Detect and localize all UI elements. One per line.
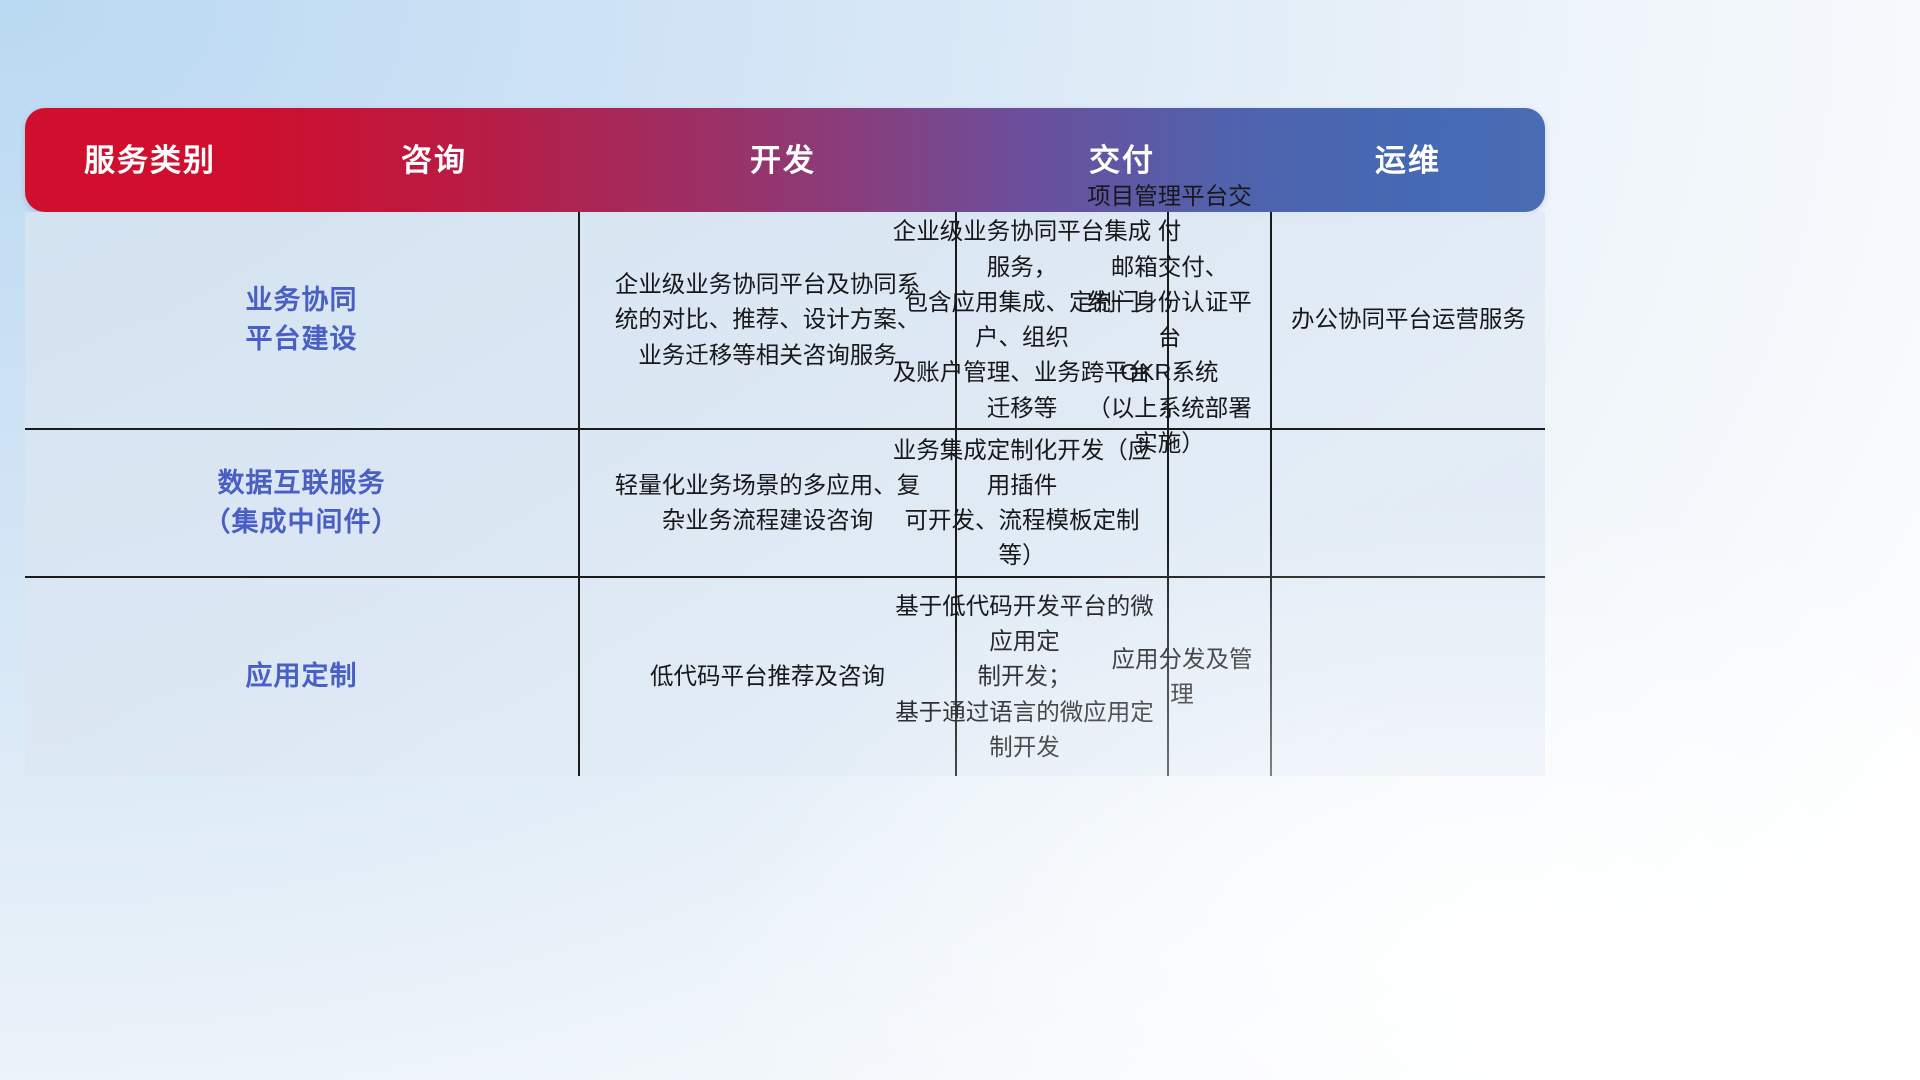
- column-header-operations: 运维: [1271, 145, 1545, 176]
- column-header-category: 服务类别: [25, 145, 275, 176]
- row-label-app-customization: 应用定制: [25, 578, 578, 776]
- cell-r3-delivery: 应用分发及管理: [1169, 578, 1270, 776]
- cell-r1-operations: 办公协同平台运营服务: [1272, 212, 1545, 428]
- service-matrix-table: 服务类别 咨询 开发 交付 运维 业务协同 平台建设 企业级业务协同平台及协同系…: [25, 108, 1545, 776]
- column-header-consulting: 咨询: [275, 145, 593, 176]
- table-header-row: 服务类别 咨询 开发 交付 运维: [25, 108, 1545, 212]
- cell-r2-operations: [1272, 430, 1545, 576]
- column-header-delivery: 交付: [973, 145, 1271, 176]
- row-label-business-collaboration: 业务协同 平台建设: [25, 212, 578, 428]
- cell-r1-delivery: 项目管理平台交付 邮箱交付、 统一身份认证平台 OKR系统 （以上系统部署实施）: [1169, 212, 1270, 428]
- cell-r3-operations: [1272, 578, 1545, 776]
- cell-r2-development: 业务集成定制化开发（应用插件 可开发、流程模板定制等）: [957, 430, 1167, 576]
- cell-r2-delivery: [1169, 430, 1270, 576]
- slide-canvas: 服务类别 咨询 开发 交付 运维 业务协同 平台建设 企业级业务协同平台及协同系…: [0, 0, 1920, 1080]
- table-body: 业务协同 平台建设 企业级业务协同平台及协同系 统的对比、推荐、设计方案、 业务…: [25, 212, 1545, 776]
- row-label-data-interconnect: 数据互联服务 （集成中间件）: [25, 430, 578, 576]
- column-header-development: 开发: [593, 145, 973, 176]
